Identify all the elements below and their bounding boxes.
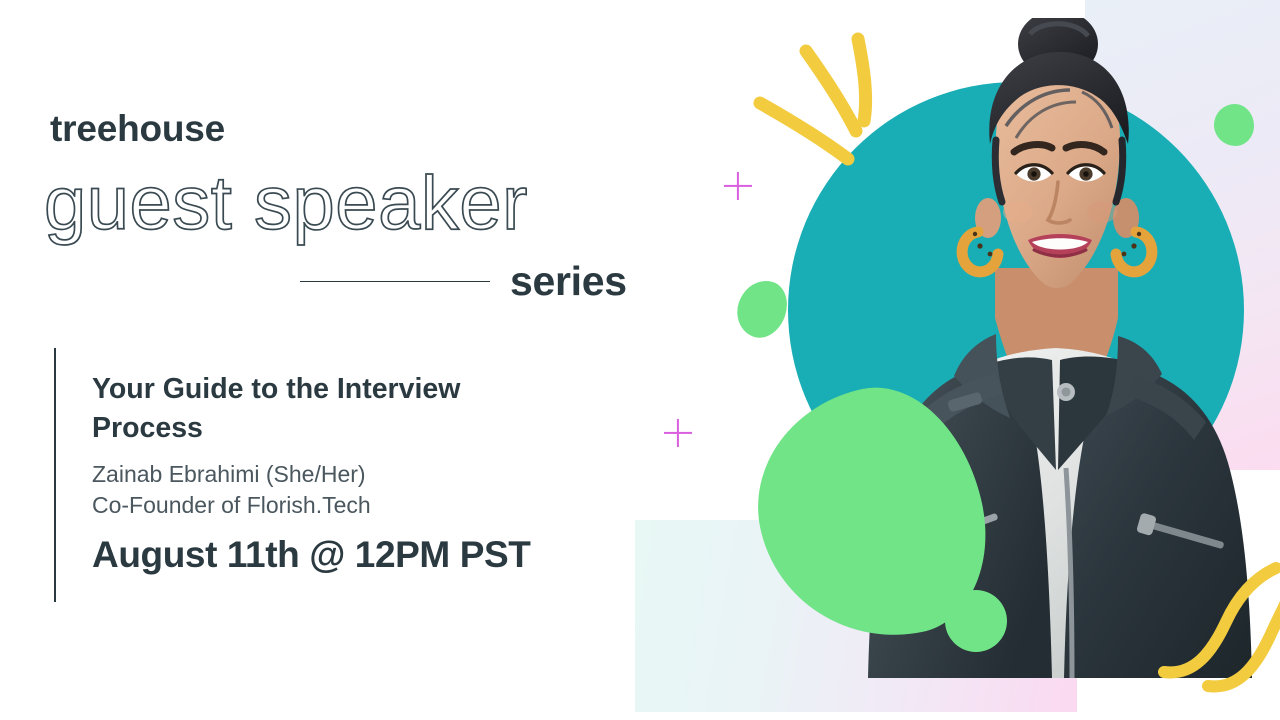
event-datetime: August 11th @ 12PM PST	[92, 534, 530, 576]
vertical-divider-rule	[54, 348, 56, 602]
yellow-wave-strokes-icon	[1150, 560, 1280, 710]
headline-outline-text: guest speaker	[44, 160, 528, 247]
green-blob-small-icon	[730, 274, 794, 344]
brand-wordmark: treehouse	[50, 108, 225, 150]
guest-speaker-series-slide: treehouse guest speaker series Your Guid…	[0, 0, 1280, 720]
pink-plus-lower-icon	[664, 419, 692, 447]
series-row: series	[300, 258, 627, 305]
speaker-name: Zainab Ebrahimi (She/Her)	[92, 461, 366, 488]
pink-plus-upper-icon	[724, 172, 752, 200]
talk-title: Your Guide to the Interview Process	[92, 370, 522, 449]
speaker-role: Co-Founder of Florish.Tech	[92, 492, 371, 519]
series-label: series	[510, 258, 627, 305]
yellow-sparkle-strokes-icon	[740, 25, 930, 195]
series-divider-rule	[300, 281, 490, 283]
green-blob-dot-icon	[945, 590, 1007, 652]
